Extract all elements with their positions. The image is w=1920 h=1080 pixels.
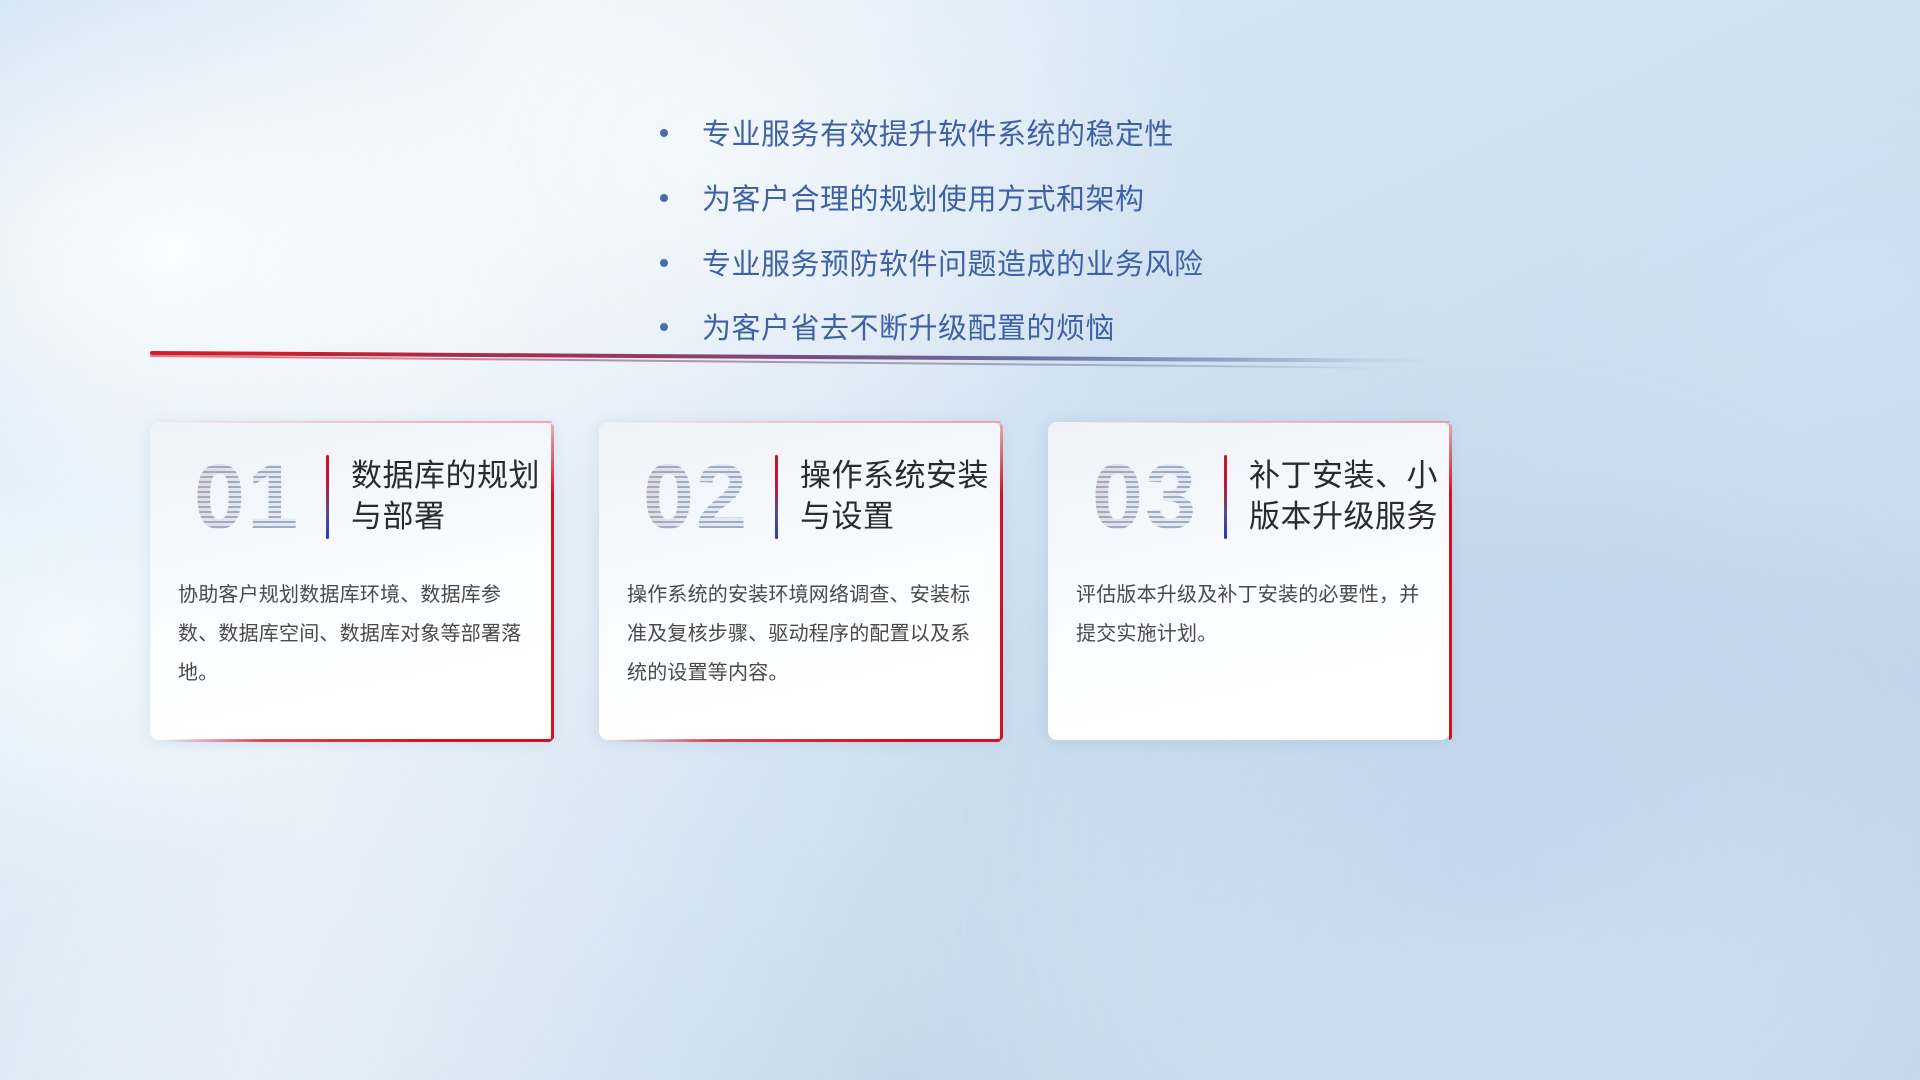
card-number-watermark: 03 (1070, 451, 1220, 543)
list-item: 为客户合理的规划使用方式和架构 (660, 183, 1204, 218)
service-card-02[interactable]: 02 操作系统安装 与设置 操作系统的安装环境网络调查、安装标准及复核步骤、驱动… (599, 422, 1001, 740)
card-accent-bar (1224, 455, 1227, 539)
card-body-text: 评估版本升级及补丁安装的必要性，并提交实施计划。 (1048, 572, 1450, 654)
bullet-text: 为客户省去不断升级配置的烦恼 (702, 312, 1115, 347)
card-bottom-accent (613, 739, 1001, 742)
card-accent-bar (326, 455, 329, 539)
card-body-text: 操作系统的安装环境网络调查、安装标准及复核步骤、驱动程序的配置以及系统的设置等内… (599, 572, 1001, 693)
card-title-line: 与设置 (800, 497, 989, 538)
list-item: 为客户省去不断升级配置的烦恼 (660, 312, 1204, 347)
card-number-watermark: 02 (621, 451, 771, 543)
bullet-text: 专业服务有效提升软件系统的稳定性 (702, 118, 1174, 153)
slide-canvas: 专业服务有效提升软件系统的稳定性 为客户合理的规划使用方式和架构 专业服务预防软… (0, 0, 1920, 1080)
card-title: 补丁安装、小 版本升级服务 (1249, 456, 1438, 538)
bullet-dot-icon (660, 194, 668, 202)
service-card-03[interactable]: 03 补丁安装、小 版本升级服务 评估版本升级及补丁安装的必要性，并提交实施计划… (1048, 422, 1450, 740)
list-item: 专业服务有效提升软件系统的稳定性 (660, 118, 1204, 153)
card-number-watermark: 01 (172, 451, 322, 543)
card-title-line: 补丁安装、小 (1249, 456, 1438, 497)
service-card-group: 01 数据库的规划 与部署 协助客户规划数据库环境、数据库参数、数据库空间、数据… (150, 422, 1450, 742)
card-title: 操作系统安装 与设置 (800, 456, 989, 538)
benefits-bullet-list: 专业服务有效提升软件系统的稳定性 为客户合理的规划使用方式和架构 专业服务预防软… (660, 118, 1204, 377)
card-header: 02 操作系统安装 与设置 (599, 422, 1001, 572)
card-title-line: 操作系统安装 (800, 456, 989, 497)
bullet-text: 专业服务预防软件问题造成的业务风险 (702, 248, 1204, 283)
card-title-line: 版本升级服务 (1249, 497, 1438, 538)
service-card-01[interactable]: 01 数据库的规划 与部署 协助客户规划数据库环境、数据库参数、数据库空间、数据… (150, 422, 552, 740)
card-title: 数据库的规划 与部署 (351, 456, 540, 538)
bullet-dot-icon (660, 259, 668, 267)
card-title-line: 与部署 (351, 497, 540, 538)
bullet-dot-icon (660, 129, 668, 137)
card-title-line: 数据库的规划 (351, 456, 540, 497)
card-bottom-accent (164, 739, 552, 742)
bullet-dot-icon (660, 323, 668, 331)
card-header: 01 数据库的规划 与部署 (150, 422, 552, 572)
list-item: 专业服务预防软件问题造成的业务风险 (660, 248, 1204, 283)
card-body-text: 协助客户规划数据库环境、数据库参数、数据库空间、数据库对象等部署落地。 (150, 572, 552, 693)
bullet-text: 为客户合理的规划使用方式和架构 (702, 183, 1145, 218)
card-header: 03 补丁安装、小 版本升级服务 (1048, 422, 1450, 572)
card-accent-bar (775, 455, 778, 539)
